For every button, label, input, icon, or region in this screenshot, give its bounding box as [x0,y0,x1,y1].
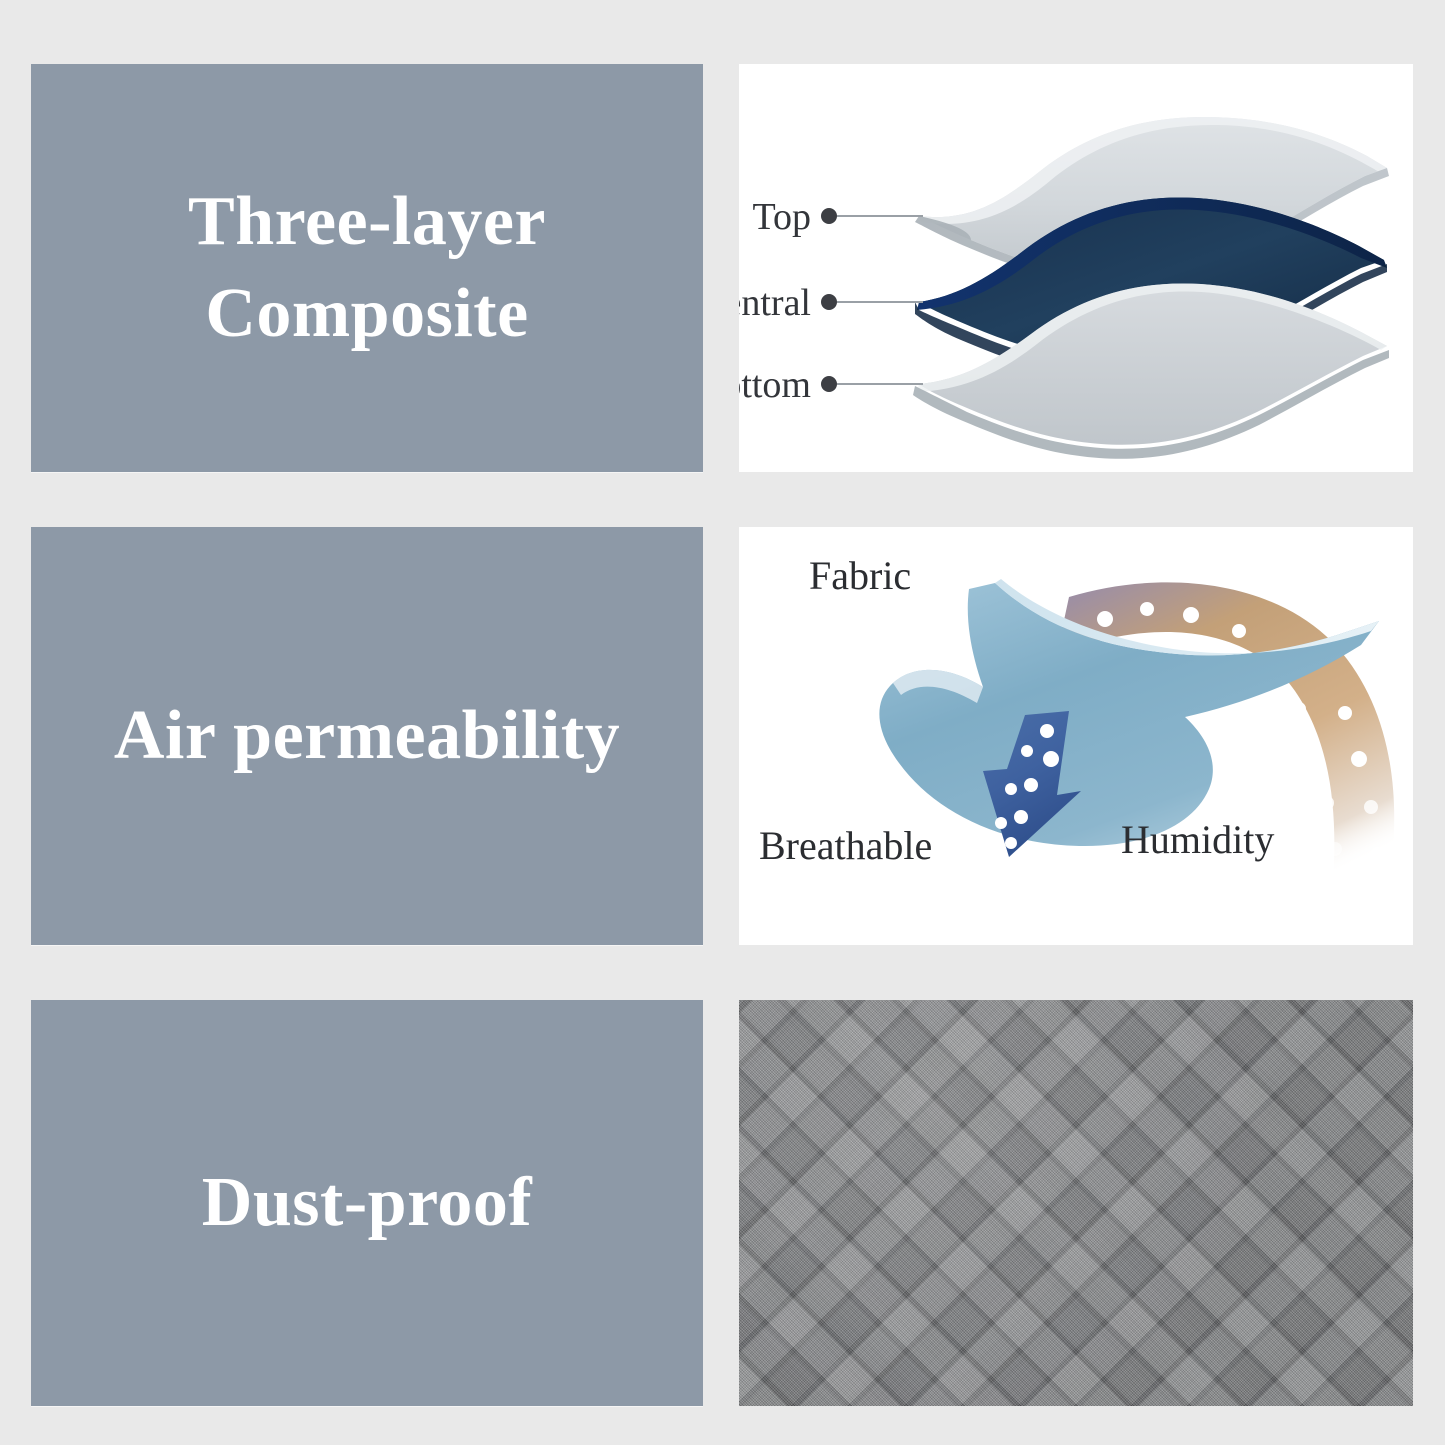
three-layer-diagram: Top Central Bottom [739,64,1413,472]
leader-dot-bottom [821,376,837,392]
label-fabric: Fabric [809,553,911,598]
headline-line-2: Composite [205,275,528,352]
leader-line-bottom [821,376,923,392]
feature-headline-three-layer: Three-layer Composite [158,176,576,361]
leader-line-top [821,208,923,224]
headline-line-1: Three-layer [188,183,546,260]
feature-grid: Three-layer Composite [31,64,1413,1391]
label-humidity: Humidity [1121,817,1274,862]
leader-dot-central [821,294,837,310]
breathability-diagram: Fabric Breathable Humidity [739,527,1413,945]
leader-line-central [821,294,923,310]
feature-card-dust-proof: Dust-proof [31,1000,703,1406]
feature-card-three-layer-composite: Three-layer Composite [31,64,703,472]
three-layer-svg: Top Central Bottom [739,64,1413,472]
feature-headline-dust-proof: Dust-proof [172,1157,562,1249]
label-top: Top [752,196,811,238]
breathability-svg: Fabric Breathable Humidity [739,527,1413,945]
label-central: Central [739,282,811,324]
feature-card-air-permeability: Air permeability [31,527,703,945]
label-bottom: Bottom [739,364,811,406]
feature-headline-air-permeability: Air permeability [84,690,650,782]
fabric-texture-swatch [739,1000,1413,1406]
leader-dot-top [821,208,837,224]
label-breathable: Breathable [759,823,932,868]
